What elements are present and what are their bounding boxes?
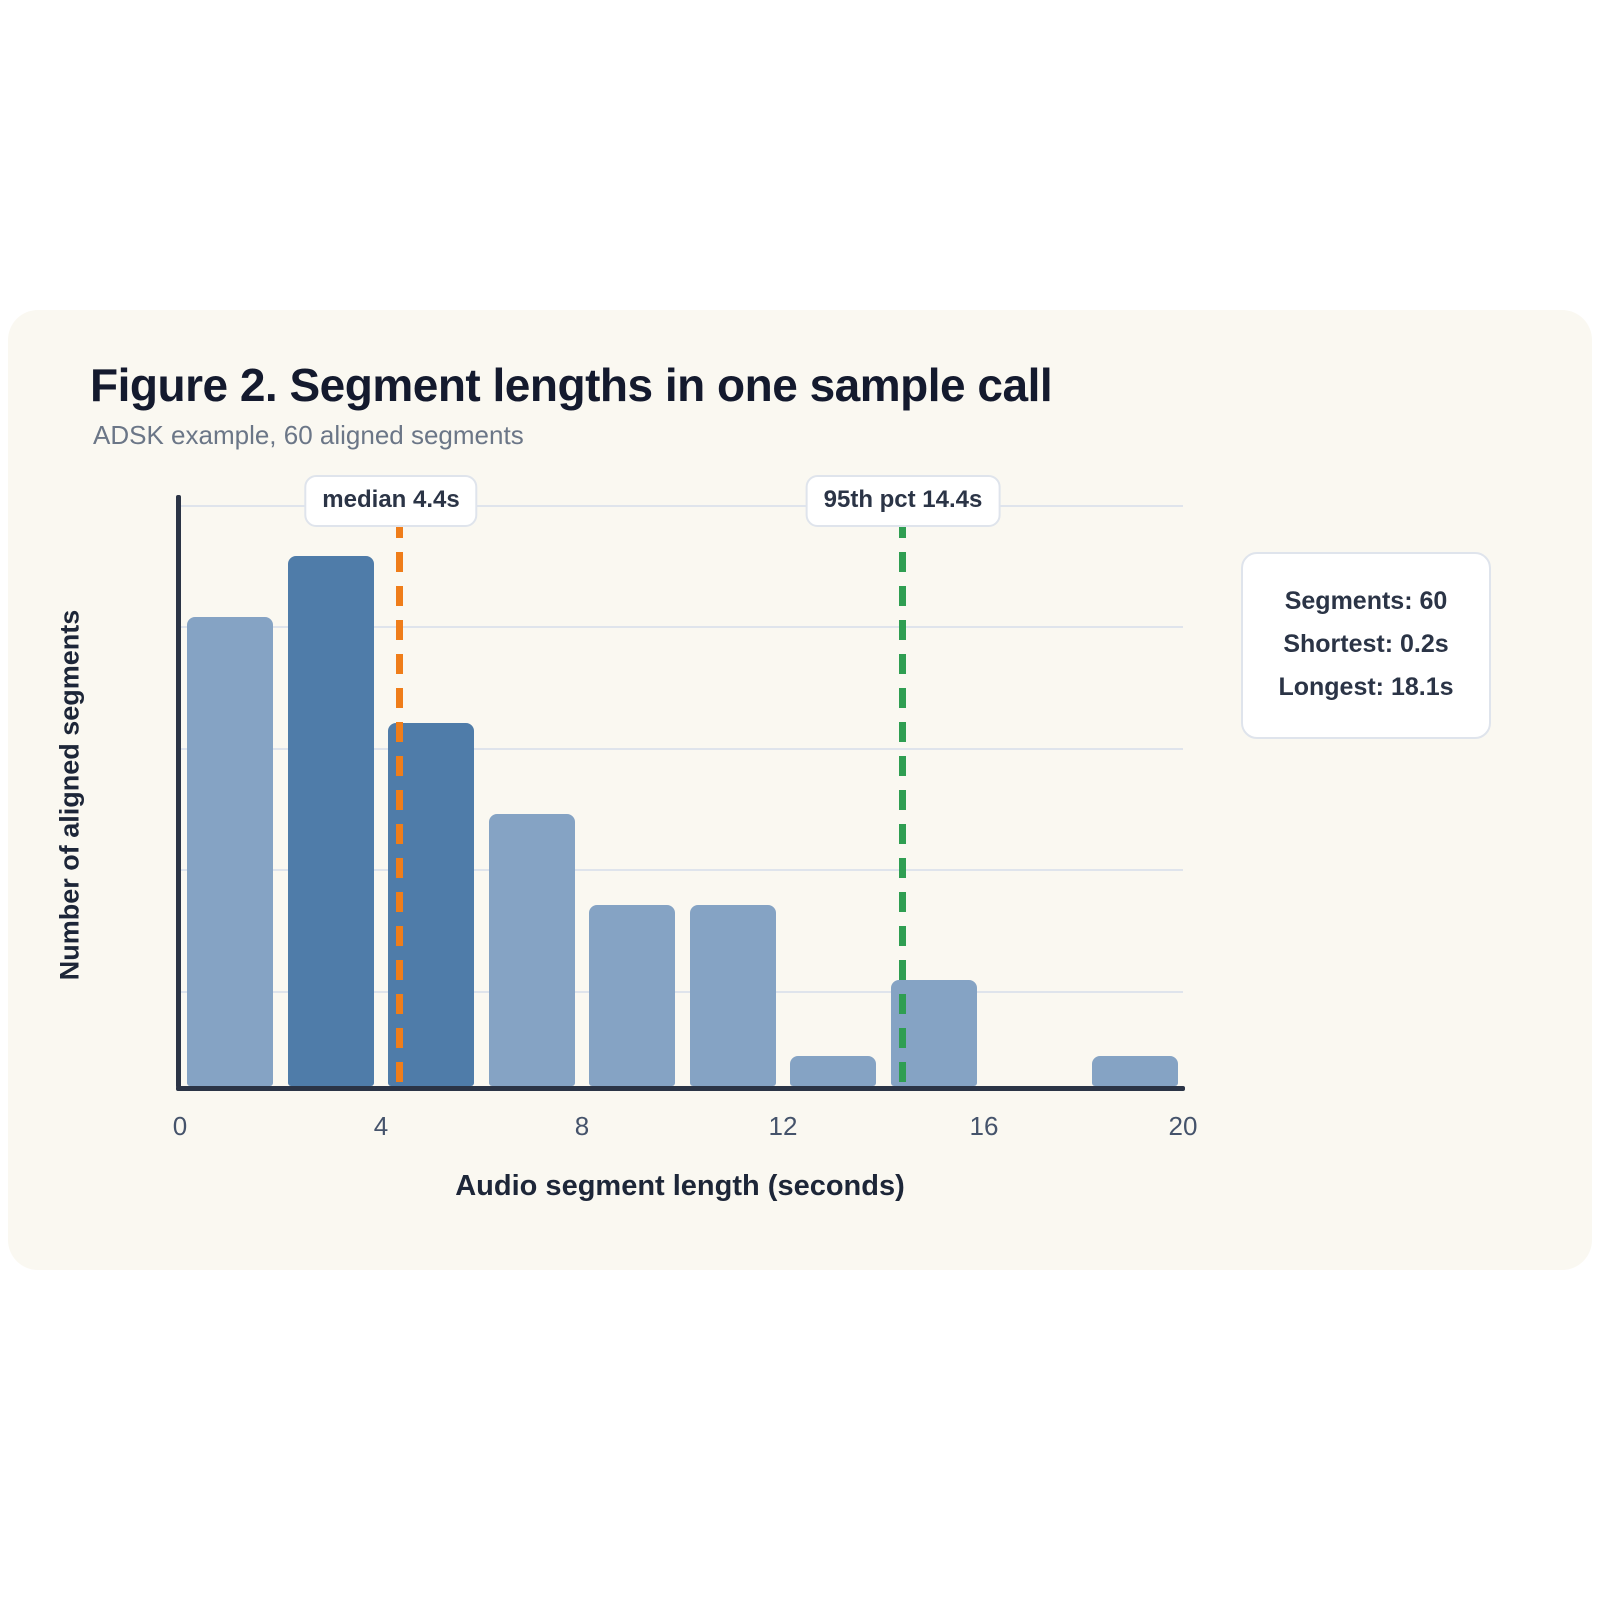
y-axis-label: Number of aligned segments: [55, 610, 86, 981]
x-tick-label: 16: [970, 1111, 999, 1142]
bar-bin-10-12: [690, 905, 776, 1086]
page-title: Figure 2. Segment lengths in one sample …: [90, 358, 1052, 412]
x-tick-label: 0: [173, 1111, 187, 1142]
x-tick-label: 4: [374, 1111, 388, 1142]
median-annotation-label: median 4.4s: [304, 475, 477, 527]
page-subtitle: ADSK example, 60 aligned segments: [93, 420, 524, 451]
bar-bin-12-14: [790, 1056, 876, 1086]
figure-card: Figure 2. Segment lengths in one sample …: [8, 310, 1592, 1270]
x-tick-label: 8: [575, 1111, 589, 1142]
bar-bin-8-10: [589, 905, 675, 1086]
stat-segments: Segments: 60: [1243, 580, 1489, 623]
summary-stats-box: Segments: 60 Shortest: 0.2s Longest: 18.…: [1241, 552, 1491, 739]
p95-marker-line: [899, 518, 906, 1086]
stat-longest: Longest: 18.1s: [1243, 666, 1489, 709]
stat-shortest: Shortest: 0.2s: [1243, 623, 1489, 666]
histogram-plot-area: median 4.4s 95th pct 14.4s 16 12 8 4 0 0…: [178, 505, 1183, 1088]
bar-bin-18-20: [1092, 1056, 1178, 1086]
median-marker-line: [396, 518, 403, 1086]
bar-bin-6-8: [489, 814, 575, 1086]
x-axis-label: Audio segment length (seconds): [455, 1170, 905, 1203]
y-axis-line: [176, 495, 181, 1088]
p95-annotation-label: 95th pct 14.4s: [806, 475, 1001, 527]
bar-bin-0-2: [187, 617, 273, 1086]
x-tick-label: 20: [1169, 1111, 1198, 1142]
x-tick-label: 12: [769, 1111, 798, 1142]
x-axis-line: [176, 1086, 1185, 1091]
bar-bin-2-4: [288, 556, 374, 1086]
